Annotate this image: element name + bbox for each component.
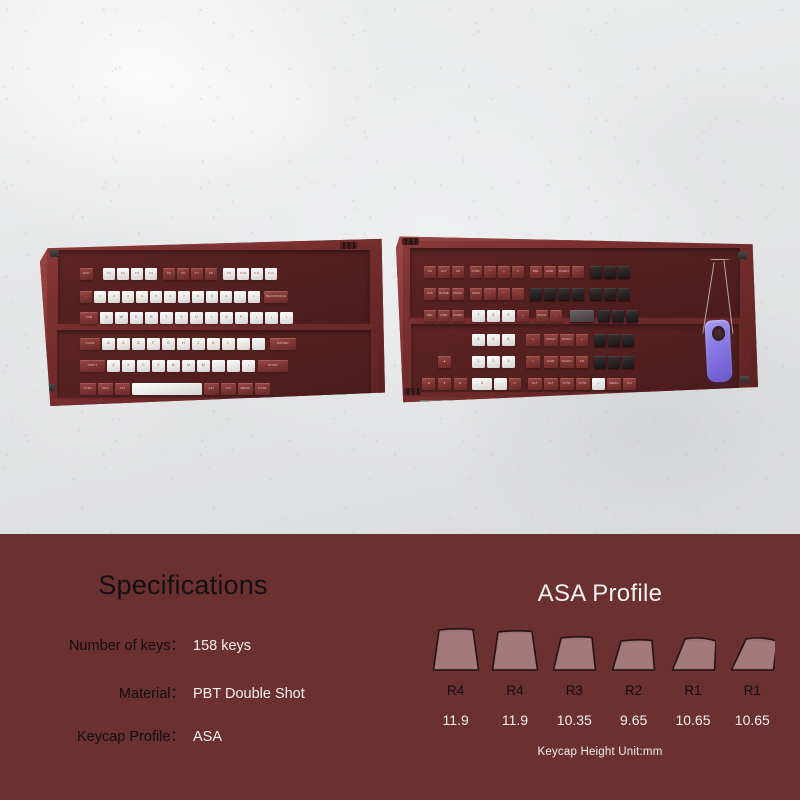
keycap: / xyxy=(484,288,496,300)
keycap: CTRL xyxy=(255,383,270,395)
keycap xyxy=(558,288,570,300)
profile-height-value-1: 11.9 xyxy=(485,712,544,728)
keycap xyxy=(604,266,616,278)
keycap: BACKSPACE xyxy=(264,291,288,303)
keycap: * xyxy=(484,266,496,278)
profile-height-values: 11.911.910.359.6510.6510.65 xyxy=(426,712,782,728)
keycap: F11 xyxy=(251,268,263,280)
keycap: / xyxy=(242,360,255,372)
keycap: , xyxy=(212,360,225,372)
keycap: 1 xyxy=(472,356,485,368)
keycap: T xyxy=(160,312,173,324)
keycap: R xyxy=(145,312,158,324)
keycap: Y xyxy=(175,312,188,324)
keycap: INS xyxy=(424,288,436,300)
asa-profile-title: ASA Profile xyxy=(400,580,800,608)
keycap: ▲ xyxy=(438,356,451,368)
keycap: 3 xyxy=(122,291,134,303)
profile-cap-r4-1 xyxy=(491,630,539,672)
profile-height-value-0: 11.9 xyxy=(426,712,485,728)
spec-value-keycap-profile: ASA xyxy=(193,729,222,745)
keycap: F5 xyxy=(163,268,175,280)
profile-height-value-4: 10.65 xyxy=(663,712,722,728)
puller-aperture xyxy=(712,326,725,341)
profile-row-label-0: R4 xyxy=(426,683,485,698)
keycap: I xyxy=(205,312,218,324)
keycap: ☼ xyxy=(526,356,540,368)
profile-row-label-2: R3 xyxy=(545,683,604,698)
keycap: = xyxy=(248,291,260,303)
keycap: ; xyxy=(237,338,250,350)
keycap: 0 xyxy=(472,378,492,390)
keycap: F12 xyxy=(265,268,277,280)
keycap: L xyxy=(222,338,235,350)
keycap: H xyxy=(177,338,190,350)
keycap: 6 xyxy=(502,334,515,346)
keycap: ALT xyxy=(528,378,542,390)
keycap: V xyxy=(152,360,165,372)
keycap: F10 xyxy=(237,268,249,280)
profile-cap-r2-3 xyxy=(611,639,656,672)
keycap: N xyxy=(182,360,195,372)
keycap: Q xyxy=(100,312,113,324)
keycap: DEL xyxy=(530,266,542,278)
keycap: MENU xyxy=(238,383,253,395)
keycap: B xyxy=(167,360,180,372)
keycap: PGDN xyxy=(560,356,574,368)
keycap xyxy=(622,356,634,368)
keycap: 9 xyxy=(502,310,515,322)
keycap: J xyxy=(192,338,205,350)
keycap xyxy=(604,288,616,300)
keycap: PGDN xyxy=(560,334,574,346)
keycap: S xyxy=(117,338,130,350)
puller-wire-arc xyxy=(710,259,730,260)
keycap-tray-left: ESCF1F2F3F4F5F6F7F8F9F10F11F12~123456789… xyxy=(40,238,385,406)
keycap: 2 xyxy=(487,356,500,368)
keycap: + xyxy=(517,310,529,322)
keycap xyxy=(594,334,606,346)
spec-row-keycap-profile: Keycap Profile： ASA xyxy=(0,725,400,746)
keycap xyxy=(132,383,202,395)
keycap: D xyxy=(132,338,145,350)
keycap: F1 xyxy=(103,268,115,280)
product-photo: ESCF1F2F3F4F5F6F7F8F9F10F11F12~123456789… xyxy=(0,0,800,534)
keycap: CTRL xyxy=(576,378,590,390)
keycap: . xyxy=(494,378,507,390)
keycap: ALT xyxy=(438,266,450,278)
keycap: CAPS xyxy=(80,338,100,350)
keycap: HOME xyxy=(438,288,450,300)
spec-row-material: Material： PBT Double Shot xyxy=(0,682,400,703)
keycap: 4 xyxy=(136,291,148,303)
keycap: W xyxy=(115,312,128,324)
keycap: 6 xyxy=(164,291,176,303)
keycap: END xyxy=(544,266,556,278)
keycap: - xyxy=(234,291,246,303)
keycap: WIN xyxy=(98,383,113,395)
keycap: C xyxy=(137,360,150,372)
keycap xyxy=(594,356,606,368)
keycap: [ xyxy=(250,312,263,324)
keycap: * xyxy=(498,288,510,300)
keycap: . xyxy=(227,360,240,372)
keycap: F7 xyxy=(191,268,203,280)
keycap: PGUP xyxy=(536,310,548,322)
keycap xyxy=(608,334,620,346)
product-spec-page: ESCF1F2F3F4F5F6F7F8F9F10F11F12~123456789… xyxy=(0,0,800,800)
keycap: 3 xyxy=(502,356,515,368)
keycap: PGUP xyxy=(544,334,558,346)
keycap xyxy=(598,310,610,322)
tray-hinge-topright xyxy=(340,242,357,249)
spec-label-number-of-keys: Number of keys： xyxy=(0,634,185,655)
keycap: FN xyxy=(623,378,636,390)
keycap: 2 xyxy=(108,291,120,303)
spec-row-number-of-keys: Number of keys： 158 keys xyxy=(0,634,400,655)
keycap-height-unit-note: Keycap Height Unit:mm xyxy=(400,746,800,758)
keycap xyxy=(572,288,584,300)
keycap-profile-diagram xyxy=(426,622,782,672)
keycap: F8 xyxy=(452,266,464,278)
keycap: Z xyxy=(107,360,120,372)
profile-cap-r3-2 xyxy=(552,636,597,672)
keycap xyxy=(544,288,556,300)
keycap: CTRL xyxy=(470,266,482,278)
keycap: END xyxy=(438,310,450,322)
asa-profile-section: ASA Profile R4R4R3R2R1R1 11.911.910.359.… xyxy=(400,534,800,800)
keycap: K xyxy=(207,338,220,350)
keycap: X xyxy=(122,360,135,372)
keycap: SHIFT xyxy=(80,360,105,372)
keycap: F2 xyxy=(117,268,129,280)
keycap: PGUP xyxy=(452,288,464,300)
keycap: END xyxy=(544,356,558,368)
keycap: F4 xyxy=(145,268,157,280)
keycap: CTRL xyxy=(80,383,96,395)
keycap: 0 xyxy=(220,291,232,303)
keycap xyxy=(622,334,634,346)
keycap: MENU xyxy=(607,378,621,390)
keycap: U xyxy=(190,312,203,324)
profile-row-label-5: R1 xyxy=(723,683,782,698)
keycap: - xyxy=(512,288,524,300)
keycap xyxy=(608,356,620,368)
keycap: ~ xyxy=(80,291,92,303)
keycap: ☼ xyxy=(592,378,605,390)
keycap: = xyxy=(512,266,524,278)
profile-row-label-1: R4 xyxy=(485,683,544,698)
keycap: ] xyxy=(265,312,278,324)
keycap xyxy=(570,310,594,322)
keycaps-right: F9ALTF8CTRL*+=DELENDPGDN↓INSHOMEPGUPNUM/… xyxy=(410,248,740,400)
specifications-title: Specifications xyxy=(0,570,366,601)
profile-height-value-5: 10.65 xyxy=(723,712,782,728)
keycap: ◄ xyxy=(422,378,435,390)
keycap: 5 xyxy=(487,334,500,346)
keycap-tray-right: F9ALTF8CTRL*+=DELENDPGDN↓INSHOMEPGUPNUM/… xyxy=(396,234,758,404)
keycap xyxy=(626,310,638,322)
specifications-section: Specifications Number of keys： 158 keys … xyxy=(0,534,400,800)
keycap: P xyxy=(235,312,248,324)
keycap xyxy=(530,288,542,300)
keycap: 7 xyxy=(178,291,190,303)
keycap xyxy=(590,288,602,300)
keycap: PGDN xyxy=(452,310,464,322)
keycap: F3 xyxy=(131,268,143,280)
keycap: F9 xyxy=(223,268,235,280)
keycaps-left: ESCF1F2F3F4F5F6F7F8F9F10F11F12~123456789… xyxy=(58,250,370,400)
keycap xyxy=(612,310,624,322)
keycap: G xyxy=(162,338,175,350)
keycap: FN xyxy=(221,383,236,395)
spec-label-material: Material： xyxy=(0,682,185,703)
keycap: 9 xyxy=(206,291,218,303)
keycap: NUM xyxy=(470,288,482,300)
spec-panel: Specifications Number of keys： 158 keys … xyxy=(0,534,800,800)
keycap: ↓ xyxy=(572,266,584,278)
keycap: FN xyxy=(576,356,588,368)
keycap: ☼ xyxy=(526,334,540,346)
keycap: E xyxy=(130,312,143,324)
profile-row-label-3: R2 xyxy=(604,683,663,698)
keycap: SHIFT xyxy=(258,360,288,372)
keycap: 4 xyxy=(472,334,485,346)
keycap: DEL xyxy=(424,310,436,322)
keycap: + xyxy=(576,334,588,346)
keycap: ALT xyxy=(204,383,219,395)
keycap: ALT xyxy=(544,378,558,390)
keycap xyxy=(590,266,602,278)
keycap: PGDN xyxy=(558,266,570,278)
keycap: M xyxy=(197,360,210,372)
keycap: 5 xyxy=(150,291,162,303)
keycap: + xyxy=(498,266,510,278)
spec-value-number-of-keys: 158 keys xyxy=(193,638,251,654)
profile-height-value-2: 10.35 xyxy=(545,712,604,728)
spec-label-keycap-profile: Keycap Profile： xyxy=(0,725,185,746)
keycap: ESC xyxy=(80,268,93,280)
tray-hinge-topleft xyxy=(402,238,419,245)
spec-value-material: PBT Double Shot xyxy=(193,686,305,702)
keycap: ENTER xyxy=(270,338,296,350)
keycap: ▼ xyxy=(438,378,451,390)
keycap: 1 xyxy=(94,291,106,303)
keycap: 7 xyxy=(472,310,485,322)
keycap: \ xyxy=(280,312,293,324)
keycap: O xyxy=(220,312,233,324)
keycap: 8 xyxy=(192,291,204,303)
keycap: TAB xyxy=(80,312,98,324)
profile-height-value-3: 9.65 xyxy=(604,712,663,728)
keycap: ► xyxy=(454,378,467,390)
keycap: A xyxy=(102,338,115,350)
keycap xyxy=(618,266,630,278)
keycap: F xyxy=(147,338,160,350)
keycap xyxy=(618,288,630,300)
keycap: ↵ xyxy=(509,378,521,390)
profile-row-label-4: R1 xyxy=(663,683,722,698)
profile-cap-r1-4 xyxy=(671,637,716,672)
keycap: 8 xyxy=(487,310,500,322)
keycap: F8 xyxy=(205,268,217,280)
profile-cap-r1-5 xyxy=(730,637,775,672)
keycap: F6 xyxy=(177,268,189,280)
keycap: CTRL xyxy=(560,378,574,390)
profile-row-labels: R4R4R3R2R1R1 xyxy=(426,683,782,698)
keycap: ALT xyxy=(115,383,130,395)
keycap-puller-tool xyxy=(694,258,754,382)
keycap: F9 xyxy=(424,266,436,278)
keycap: → xyxy=(550,310,562,322)
keycap: ' xyxy=(252,338,265,350)
profile-cap-r4-0 xyxy=(432,628,480,672)
